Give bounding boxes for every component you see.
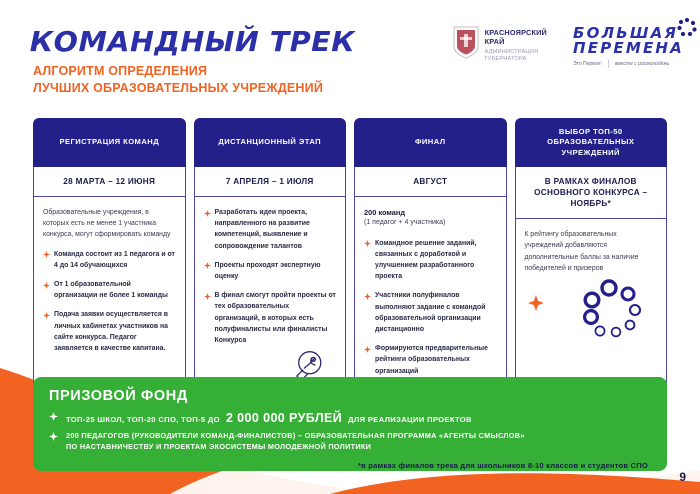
stage-column-registration: РЕГИСТРАЦИЯ КОМАНД 28 МАРТА – 12 ИЮНЯ Об… (33, 118, 186, 402)
column-header: ДИСТАНЦИОННЫЙ ЭТАП (194, 118, 347, 167)
list-item: Формируются предварительные рейтинги обр… (364, 343, 497, 377)
peremena-dots-icon (676, 17, 698, 39)
star-bullet-icon (364, 293, 371, 300)
column-date: 28 МАРТА – 12 ИЮНЯ (33, 167, 186, 197)
list-item: Команда состоит из 1 педагога и от 4 до … (43, 249, 176, 271)
logo-group: КРАСНОЯРСКИЙ КРАЙ АДМИНИСТРАЦИЯ ГУБЕРНАТ… (453, 26, 684, 68)
column-body: 200 команд (1 педагог + 4 участника) Ком… (354, 197, 507, 402)
page-title: КОМАНДНЫЙ ТРЕК (30, 28, 355, 56)
subtitle-line-1: АЛГОРИТМ ОПРЕДЕЛЕНИЯ (33, 63, 352, 80)
prize-row1-prefix: ТОП-25 ШКОЛ, ТОП-20 СПО, ТОП-5 ДО (66, 415, 220, 424)
list-item: Участники полуфиналов выполняют задание … (364, 290, 497, 335)
slide-root: КОМАНДНЫЙ ТРЕК АЛГОРИТМ ОПРЕДЕЛЕНИЯ ЛУЧШ… (0, 0, 700, 494)
bullet-list: Командное решение заданий, связанных с д… (364, 238, 497, 377)
krasnoyarsk-coat-of-arms-icon (453, 26, 479, 59)
stage-columns: РЕГИСТРАЦИЯ КОМАНД 28 МАРТА – 12 ИЮНЯ Об… (33, 118, 667, 402)
kk-sub-1: АДМИНИСТРАЦИЯ (485, 49, 547, 56)
stage-column-final: ФИНАЛ АВГУСТ 200 команд (1 педагог + 4 у… (354, 118, 507, 402)
bp-tag-right: вместе с росмолодёжь (615, 61, 670, 67)
list-item-label: Проекты проходят экспертную оценку (215, 262, 321, 280)
list-item: Проекты проходят экспертную оценку (204, 260, 337, 282)
bullet-list: Команда состоит из 1 педагога и от 4 до … (43, 249, 176, 355)
list-item-label: Подача заявки осуществляется в личных ка… (54, 311, 168, 352)
stage-column-distance: ДИСТАНЦИОННЫЙ ЭТАП 7 АПРЕЛЯ – 1 ИЮЛЯ Раз… (194, 118, 347, 402)
column-header: РЕГИСТРАЦИЯ КОМАНД (33, 118, 186, 167)
list-item-label: От 1 образовательной организации не боле… (54, 281, 168, 299)
list-item-label: В финал смогут пройти проекты от тех обр… (215, 292, 336, 344)
dot-ring-decoration-icon (578, 277, 652, 351)
bullet-list: Разработать идеи проекта, направленного … (204, 207, 337, 346)
column-body: Разработать идеи проекта, направленного … (194, 197, 347, 402)
column-date: 7 АПРЕЛЯ – 1 ИЮЛЯ (194, 167, 347, 197)
prize-row-1: ТОП-25 ШКОЛ, ТОП-20 СПО, ТОП-5 ДО 2 000 … (49, 411, 651, 425)
list-item-label: Формируются предварительные рейтинги обр… (375, 345, 488, 374)
prize-fund-title: ПРИЗОВОЙ ФОНД (49, 388, 651, 404)
stage-column-top50: ВЫБОР ТОП-50 ОБРАЗОВАТЕЛЬНЫХ УЧРЕЖДЕНИЙ … (515, 118, 668, 402)
star-bullet-icon (49, 432, 58, 441)
bp-tagline-row: Это Первое! вместе с росмолодёжь (573, 60, 684, 68)
bolshaya-peremena-logo: БОЛЬШАЯ ПЕРЕМЕНА Это Первое! вместе с ро… (573, 26, 684, 68)
list-item-label: Команда состоит из 1 педагога и от 4 до … (54, 251, 175, 269)
prize-row1-amount: 2 000 000 РУБЛЕЙ (226, 411, 342, 425)
star-bullet-icon (43, 282, 50, 289)
column-header: ВЫБОР ТОП-50 ОБРАЗОВАТЕЛЬНЫХ УЧРЕЖДЕНИЙ (515, 118, 668, 167)
prize-row-2: 200 ПЕДАГОГОВ (РУКОВОДИТЕЛИ КОМАНД-ФИНАЛ… (49, 431, 651, 453)
column-date: В РАМКАХ ФИНАЛОВ ОСНОВНОГО КОНКУРСА – НО… (515, 167, 668, 219)
kk-line-1: КРАСНОЯРСКИЙ (485, 28, 547, 37)
kk-line-2: КРАЙ (485, 37, 547, 46)
column-intro-text: Образовательные учреждения, в которых ес… (43, 207, 176, 241)
list-item-label: Участники полуфиналов выполняют задание … (375, 292, 485, 333)
star-bullet-icon (43, 312, 50, 319)
column-body: К рейтингу образовательных учреждений до… (515, 219, 668, 402)
list-item: Командное решение заданий, связанных с д… (364, 238, 497, 283)
star-bullet-icon (43, 251, 50, 258)
prize-row2-line-1: 200 ПЕДАГОГОВ (РУКОВОДИТЕЛИ КОМАНД-ФИНАЛ… (66, 431, 651, 442)
star-bullet-icon (204, 262, 211, 269)
prize-fund-banner: ПРИЗОВОЙ ФОНД ТОП-25 ШКОЛ, ТОП-20 СПО, Т… (33, 377, 667, 471)
bp-divider (608, 60, 609, 68)
page-subtitle: АЛГОРИТМ ОПРЕДЕЛЕНИЯ ЛУЧШИХ ОБРАЗОВАТЕЛЬ… (33, 63, 352, 97)
list-item: Разработать идеи проекта, направленного … (204, 207, 337, 252)
bp-line-2: ПЕРЕМЕНА (573, 41, 684, 56)
star-bullet-icon (364, 240, 371, 247)
final-team-composition: (1 педагог + 4 участника) (364, 218, 497, 229)
list-item: В финал смогут пройти проекты от тех обр… (204, 290, 337, 346)
star-bullet-icon (204, 210, 211, 217)
column-intro-text: К рейтингу образовательных учреждений до… (525, 229, 658, 274)
header-block: КОМАНДНЫЙ ТРЕК АЛГОРИТМ ОПРЕДЕЛЕНИЯ ЛУЧШ… (33, 28, 352, 97)
list-item: Подача заявки осуществляется в личных ка… (43, 309, 176, 354)
star-bullet-icon (49, 412, 58, 421)
krasnoyarsk-logo-text: КРАСНОЯРСКИЙ КРАЙ АДМИНИСТРАЦИЯ ГУБЕРНАТ… (485, 26, 547, 64)
star-bullet-icon (364, 346, 371, 353)
subtitle-line-2: ЛУЧШИХ ОБРАЗОВАТЕЛЬНЫХ УЧРЕЖДЕНИЙ (33, 80, 352, 97)
column-header: ФИНАЛ (354, 118, 507, 167)
column-body: Образовательные учреждения, в которых ес… (33, 197, 186, 402)
prize-row2-line-2: ПО НАСТАВНИЧЕСТВУ И ПРОЕКТАМ ЭКОСИСТЕМЫ … (66, 442, 651, 453)
final-team-count: 200 команд (364, 207, 497, 218)
bp-tag-left: Это Первое! (573, 61, 602, 67)
page-number: 9 (679, 470, 686, 484)
krasnoyarsk-krai-logo: КРАСНОЯРСКИЙ КРАЙ АДМИНИСТРАЦИЯ ГУБЕРНАТ… (453, 26, 547, 64)
star-decoration-icon (528, 295, 544, 311)
list-item-label: Командное решение заданий, связанных с д… (375, 240, 477, 281)
list-item-label: Разработать идеи проекта, направленного … (215, 209, 310, 250)
kk-sub-2: ГУБЕРНАТОРА (485, 56, 547, 63)
star-bullet-icon (204, 293, 211, 300)
list-item: От 1 образовательной организации не боле… (43, 279, 176, 301)
column-date: АВГУСТ (354, 167, 507, 197)
prize-row1-suffix: ДЛЯ РЕАЛИЗАЦИИ ПРОЕКТОВ (348, 415, 472, 424)
footnote-text: *в рамках финалов трека для школьников 8… (358, 461, 648, 470)
